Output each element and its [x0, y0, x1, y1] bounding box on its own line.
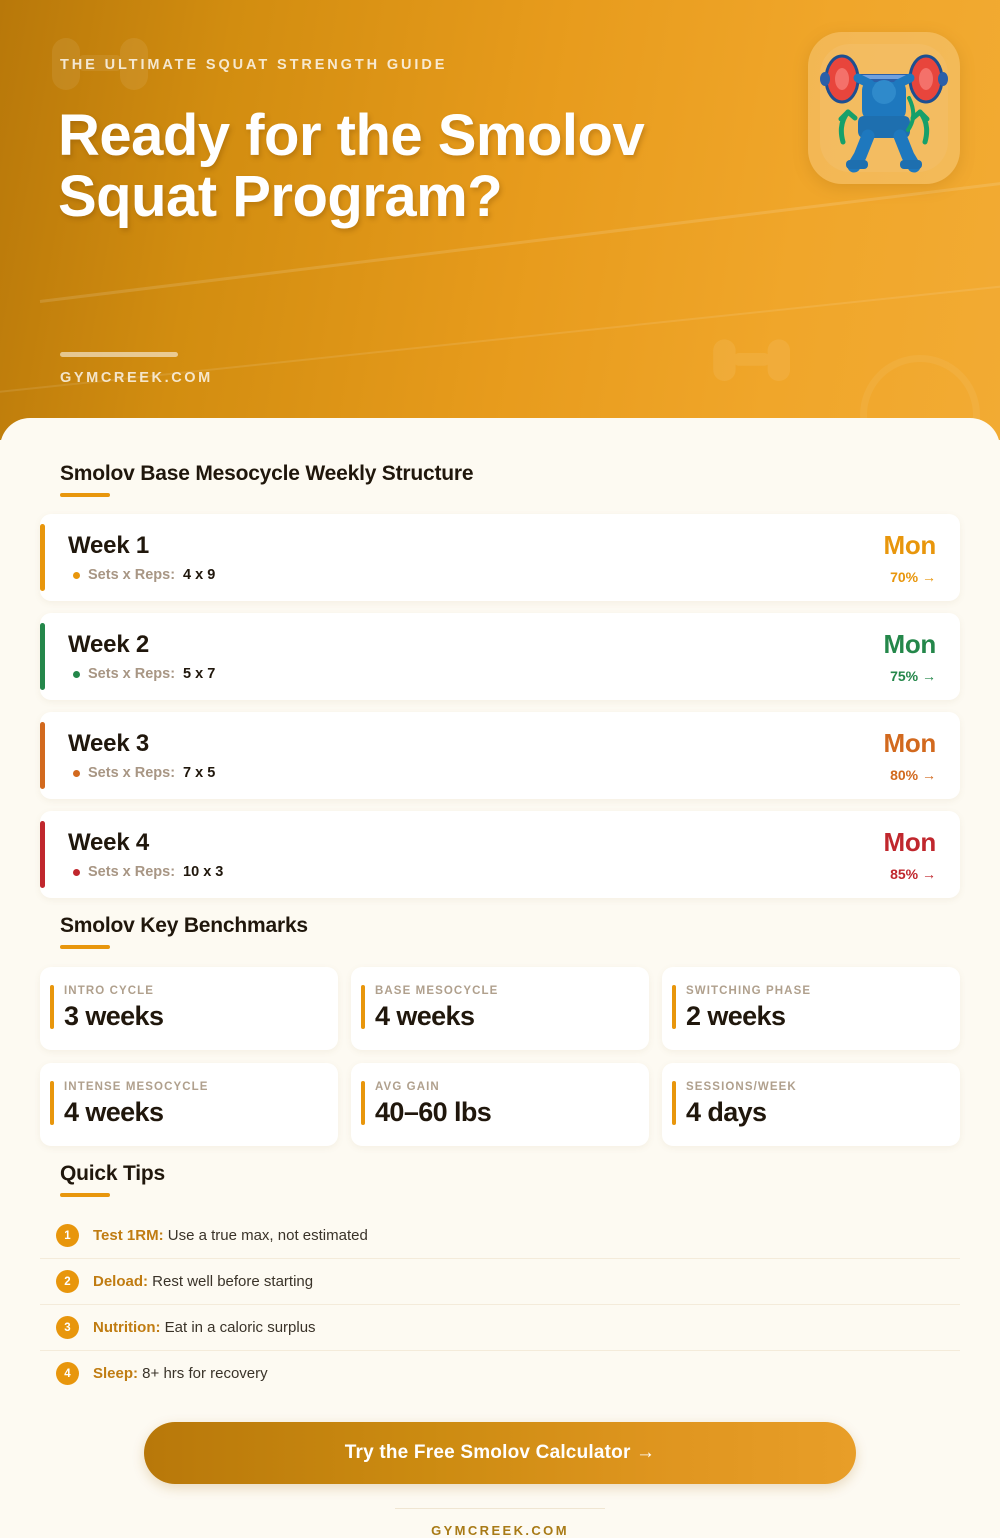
benchmark-accent-bar [672, 985, 676, 1029]
benchmark-label: INTRO CYCLE [64, 985, 320, 997]
benchmark-accent-bar [361, 985, 365, 1029]
week-day: Mon [883, 530, 936, 561]
benchmark-label: AVG GAIN [375, 1081, 631, 1093]
week-day: Mon [883, 728, 936, 759]
bullet-dot-icon [73, 770, 80, 777]
week-accent-bar [40, 821, 45, 888]
week-title: Week 2 [68, 631, 215, 659]
benchmark-card: INTENSE MESOCYCLE 4 weeks [40, 1063, 338, 1146]
cta-container: Try the Free Smolov Calculator → [40, 1422, 960, 1484]
benchmark-card: SESSIONS/WEEK 4 days [662, 1063, 960, 1146]
benchmark-card: AVG GAIN 40–60 lbs [351, 1063, 649, 1146]
benchmark-label: INTENSE MESOCYCLE [64, 1081, 320, 1093]
tip-number-badge: 1 [56, 1224, 79, 1247]
page-title: Ready for the Smolov Squat Program? [58, 105, 678, 227]
week-percent: 70% → [890, 569, 936, 585]
bullet-dot-icon [73, 869, 80, 876]
bullet-dot-icon [73, 572, 80, 579]
footer-site-label: GYMCREEK.COM [40, 1523, 960, 1538]
tip-number-badge: 2 [56, 1270, 79, 1293]
benchmark-value: 2 weeks [686, 1001, 942, 1032]
weeks-list: Week 1 Sets x Reps: 4 x 9 Mon 70% → Week… [40, 514, 960, 898]
content-panel: Smolov Base Mesocycle Weekly Structure W… [0, 418, 1000, 1538]
tip-label: Nutrition: [93, 1319, 160, 1336]
benchmark-label: SESSIONS/WEEK [686, 1081, 942, 1093]
week-card[interactable]: Week 3 Sets x Reps: 7 x 5 Mon 80% → [40, 712, 960, 799]
footer-divider [395, 1508, 605, 1509]
week-title: Week 1 [68, 532, 215, 560]
benchmark-card: INTRO CYCLE 3 weeks [40, 967, 338, 1050]
tip-text: Nutrition: Eat in a caloric surplus [93, 1319, 316, 1336]
week-percent: 80% → [890, 767, 936, 783]
header-divider [60, 352, 178, 357]
week-sets-reps: Sets x Reps: 4 x 9 [68, 567, 215, 583]
heading-underline [60, 493, 110, 497]
heading-underline [60, 945, 110, 949]
tips-list: 1 Test 1RM: Use a true max, not estimate… [40, 1213, 960, 1396]
benchmarks-grid: INTRO CYCLE 3 weeks BASE MESOCYCLE 4 wee… [40, 967, 960, 1146]
week-day: Mon [883, 629, 936, 660]
benchmark-label: SWITCHING PHASE [686, 985, 942, 997]
benchmark-value: 4 weeks [375, 1001, 631, 1032]
week-sets-reps: Sets x Reps: 10 x 3 [68, 864, 223, 880]
week-card[interactable]: Week 2 Sets x Reps: 5 x 7 Mon 75% → [40, 613, 960, 700]
sets-reps-value: 4 x 9 [183, 567, 215, 583]
tip-body: Use a true max, not estimated [164, 1227, 368, 1244]
sets-reps-value: 5 x 7 [183, 666, 215, 682]
benchmark-value: 4 days [686, 1097, 942, 1128]
tip-number-badge: 3 [56, 1316, 79, 1339]
week-card[interactable]: Week 1 Sets x Reps: 4 x 9 Mon 70% → [40, 514, 960, 601]
tip-body: Rest well before starting [148, 1273, 313, 1290]
benchmark-accent-bar [50, 985, 54, 1029]
tip-row: 2 Deload: Rest well before starting [40, 1259, 960, 1305]
week-accent-bar [40, 623, 45, 690]
sets-reps-label: Sets x Reps: [88, 765, 175, 781]
week-percent: 85% → [890, 866, 936, 882]
heading-underline [60, 1193, 110, 1197]
tip-row: 3 Nutrition: Eat in a caloric surplus [40, 1305, 960, 1351]
week-day: Mon [883, 827, 936, 858]
benchmark-accent-bar [50, 1081, 54, 1125]
benchmark-card: SWITCHING PHASE 2 weeks [662, 967, 960, 1050]
tip-row: 1 Test 1RM: Use a true max, not estimate… [40, 1213, 960, 1259]
tip-body: 8+ hrs for recovery [138, 1365, 268, 1382]
tip-label: Sleep: [93, 1365, 138, 1382]
week-accent-bar [40, 524, 45, 591]
sets-reps-label: Sets x Reps: [88, 864, 175, 880]
bullet-dot-icon [73, 671, 80, 678]
try-calculator-button[interactable]: Try the Free Smolov Calculator → [144, 1422, 856, 1484]
tip-label: Deload: [93, 1273, 148, 1290]
weightlifter-squat-icon [808, 32, 960, 184]
sets-reps-label: Sets x Reps: [88, 666, 175, 682]
benchmarks-heading: Smolov Key Benchmarks [60, 914, 960, 938]
benchmark-value: 40–60 lbs [375, 1097, 631, 1128]
benchmark-accent-bar [361, 1081, 365, 1125]
tip-number-badge: 4 [56, 1362, 79, 1385]
benchmarks-section-header: Smolov Key Benchmarks [60, 914, 960, 949]
weeks-section-header: Smolov Base Mesocycle Weekly Structure [60, 462, 960, 497]
tips-section-header: Quick Tips [60, 1162, 960, 1197]
tip-text: Test 1RM: Use a true max, not estimated [93, 1227, 368, 1244]
tip-body: Eat in a caloric surplus [160, 1319, 315, 1336]
tip-text: Deload: Rest well before starting [93, 1273, 313, 1290]
dumbbell-watermark-icon-2 [690, 325, 810, 397]
benchmark-value: 4 weeks [64, 1097, 320, 1128]
header-site-label: GYMCREEK.COM [60, 370, 213, 386]
infographic-page: THE ULTIMATE SQUAT STRENGTH GUIDE Ready … [0, 0, 1000, 1500]
tips-heading: Quick Tips [60, 1162, 960, 1186]
weeks-heading: Smolov Base Mesocycle Weekly Structure [60, 462, 960, 486]
week-sets-reps: Sets x Reps: 7 x 5 [68, 765, 215, 781]
hero-header: THE ULTIMATE SQUAT STRENGTH GUIDE Ready … [0, 0, 1000, 440]
week-accent-bar [40, 722, 45, 789]
benchmark-card: BASE MESOCYCLE 4 weeks [351, 967, 649, 1050]
benchmark-label: BASE MESOCYCLE [375, 985, 631, 997]
week-percent: 75% → [890, 668, 936, 684]
week-card[interactable]: Week 4 Sets x Reps: 10 x 3 Mon 85% → [40, 811, 960, 898]
tip-text: Sleep: 8+ hrs for recovery [93, 1365, 268, 1382]
sets-reps-value: 10 x 3 [183, 864, 223, 880]
benchmark-accent-bar [672, 1081, 676, 1125]
tip-label: Test 1RM: [93, 1227, 164, 1244]
week-sets-reps: Sets x Reps: 5 x 7 [68, 666, 215, 682]
tip-row: 4 Sleep: 8+ hrs for recovery [40, 1351, 960, 1396]
week-title: Week 4 [68, 829, 223, 857]
week-title: Week 3 [68, 730, 215, 758]
sets-reps-value: 7 x 5 [183, 765, 215, 781]
eyebrow-text: THE ULTIMATE SQUAT STRENGTH GUIDE [60, 57, 447, 73]
benchmark-value: 3 weeks [64, 1001, 320, 1032]
sets-reps-label: Sets x Reps: [88, 567, 175, 583]
